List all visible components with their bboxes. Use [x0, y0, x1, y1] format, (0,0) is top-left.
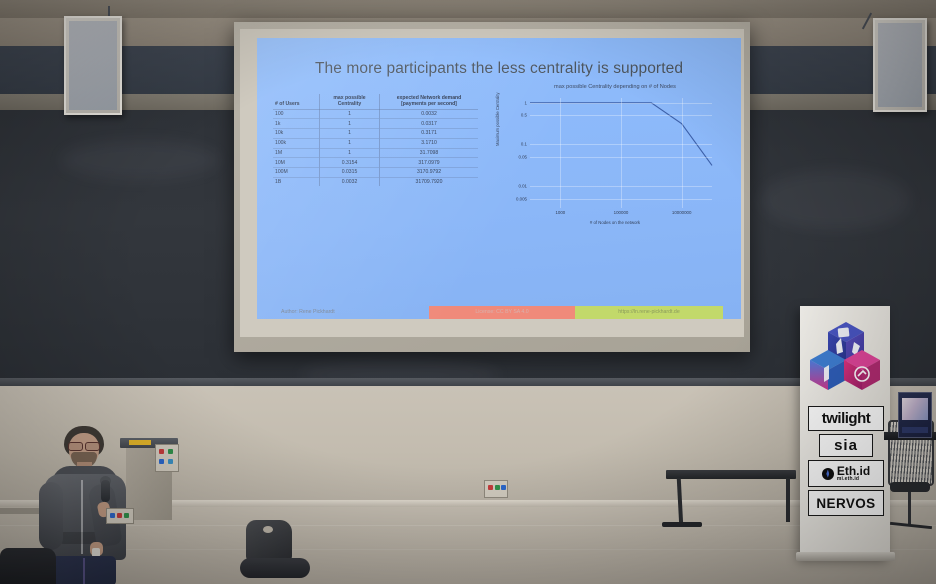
foreground-chair: [0, 548, 56, 584]
sponsor-badge-ethid: Eth.id mi.eth.id: [808, 460, 884, 487]
stacking-chair-back: [246, 520, 292, 562]
side-table-top: [666, 470, 796, 479]
mesh-chair-base: [890, 522, 932, 529]
cell-demand: 0.3171: [380, 129, 479, 139]
chart-y-tick: 0.5: [521, 113, 527, 118]
wall-outlet-center[interactable]: [484, 480, 508, 498]
th-centrality: max possible Centrality: [320, 94, 380, 109]
table-body: 10010.00321k10.031710k10.3171100k13.1710…: [273, 109, 478, 186]
speaker-grille-left: [69, 21, 117, 110]
cell-users: 1B: [273, 177, 320, 186]
th-centrality-line2: Centrality: [338, 101, 362, 107]
sponsor-sublabel-ethid: mi.eth.id: [837, 477, 859, 482]
cell-demand: 31.7098: [380, 148, 479, 158]
monitor-screen-content: [902, 398, 928, 420]
banner-base-foot: [796, 552, 895, 561]
centrality-chart: max possible Centrality depending on # o…: [497, 84, 733, 239]
wall-socket-panel[interactable]: [155, 444, 179, 472]
presentation-slide: The more participants the less centralit…: [257, 38, 741, 319]
side-table-foot: [662, 522, 702, 527]
cell-centrality: 1: [320, 119, 380, 129]
chart-x-tick: 10000000: [672, 210, 692, 215]
chart-gridline-v: [682, 98, 683, 208]
microphone: [101, 480, 110, 502]
chart-y-tick: 1: [525, 100, 527, 105]
cell-demand: 31709.7920: [380, 177, 479, 186]
sponsor-badge-twilight: twilight: [808, 406, 884, 431]
sponsor-rollup-banner: twilight sia Eth.id mi.eth.id NERVOS: [800, 306, 890, 558]
cell-centrality: 0.3154: [320, 158, 380, 168]
monitor-taskbar: [902, 427, 928, 433]
floor-outlet-left[interactable]: [106, 508, 134, 524]
stacking-chair: [236, 520, 320, 584]
centrality-table: # of Users max possible Centrality expec…: [273, 94, 478, 186]
table-row: 1k10.0317: [273, 119, 478, 129]
chair-handle-cutout: [263, 526, 273, 533]
cell-demand: 3170.9792: [380, 167, 479, 177]
cell-users: 100k: [273, 138, 320, 148]
table-row: 10k10.3171: [273, 129, 478, 139]
stacking-chair-seat: [240, 558, 310, 578]
chart-x-tick: 100000: [614, 210, 629, 215]
sponsor-label-sia: sia: [834, 437, 858, 454]
mesh-chair-post: [908, 492, 911, 526]
th-users: # of Users: [273, 94, 320, 109]
cell-centrality: 0.0315: [320, 167, 380, 177]
table-row: 10M0.3154317.0979: [273, 158, 478, 168]
table-head: # of Users max possible Centrality expec…: [273, 94, 478, 109]
th-demand: expected Network demand [payments per se…: [380, 94, 479, 109]
table-row: 1B0.003231709.7920: [273, 177, 478, 186]
chart-gridline-v: [621, 98, 622, 208]
table-row: 100k13.1710: [273, 138, 478, 148]
sponsor-badge-sia: sia: [819, 434, 873, 457]
th-centrality-line1: max possible: [333, 95, 365, 101]
cell-demand: 317.0979: [380, 158, 479, 168]
table-row: 100M0.03153170.9792: [273, 167, 478, 177]
lecture-hall-scene: The more participants the less centralit…: [0, 0, 936, 584]
cell-users: 10M: [273, 158, 320, 168]
chart-gridline-v: [560, 98, 561, 208]
sponsor-label-nervos: NERVOS: [816, 496, 875, 511]
wall-speaker-left: [64, 16, 122, 115]
cell-centrality: 0.0032: [320, 177, 380, 186]
chart-y-tick: 0.005: [516, 196, 527, 201]
presenter-left-arm: [39, 482, 63, 550]
cell-centrality: 1: [320, 138, 380, 148]
cell-demand: 0.0032: [380, 109, 479, 119]
glasses-icon: [68, 442, 100, 449]
side-table-leg-right: [786, 478, 790, 522]
cell-users: 100M: [273, 167, 320, 177]
mesh-chair-seat: [890, 482, 930, 492]
slide-license-badge: License: CC BY SA 4.0: [429, 306, 575, 319]
chart-y-tick: 0.1: [521, 142, 527, 147]
cell-users: 1k: [273, 119, 320, 129]
speaker-grille-right: [878, 23, 922, 107]
ceiling-band: [0, 0, 936, 20]
chart-y-tick: 0.01: [518, 184, 527, 189]
cell-users: 1M: [273, 148, 320, 158]
chart-plot-area: 10.50.10.050.010.005100010000010000000: [530, 98, 712, 208]
presenter-trouser-seam: [83, 558, 85, 584]
cell-centrality: 1: [320, 129, 380, 139]
table-header-row: # of Users max possible Centrality expec…: [273, 94, 478, 109]
chart-x-axis-label: # of Nodes on the network: [497, 220, 733, 225]
display-monitor: [898, 392, 932, 438]
table-row: 10010.0032: [273, 109, 478, 119]
cell-centrality: 1: [320, 109, 380, 119]
cell-demand: 0.0317: [380, 119, 479, 129]
sponsor-badge-nervos: NERVOS: [808, 490, 884, 516]
slide-title: The more participants the less centralit…: [257, 60, 741, 78]
cell-centrality: 1: [320, 148, 380, 158]
slide-author-credit: Author: Rene Pickhardt: [281, 306, 441, 319]
th-demand-line1: expected Network demand: [397, 95, 462, 101]
ethereum-diamond-icon: [822, 468, 834, 480]
chart-title: max possible Centrality depending on # o…: [497, 84, 733, 90]
cell-demand: 3.1710: [380, 138, 479, 148]
chart-y-axis-label: Maximum possible Centrality: [495, 92, 500, 146]
chart-y-tick: 0.05: [518, 155, 527, 160]
hex-cubes-logo: [810, 318, 880, 396]
chart-x-tick: 1000: [555, 210, 565, 215]
yellow-tape-marker: [129, 440, 151, 445]
slide-url-badge[interactable]: https://ln.rene-pickhardt.de: [575, 306, 723, 319]
cell-users: 100: [273, 109, 320, 119]
wall-speaker-right: [873, 18, 927, 112]
th-demand-line2: [payments per second]: [401, 101, 457, 107]
sponsor-label-twilight: twilight: [822, 410, 871, 427]
cell-users: 10k: [273, 129, 320, 139]
table-row: 1M131.7098: [273, 148, 478, 158]
